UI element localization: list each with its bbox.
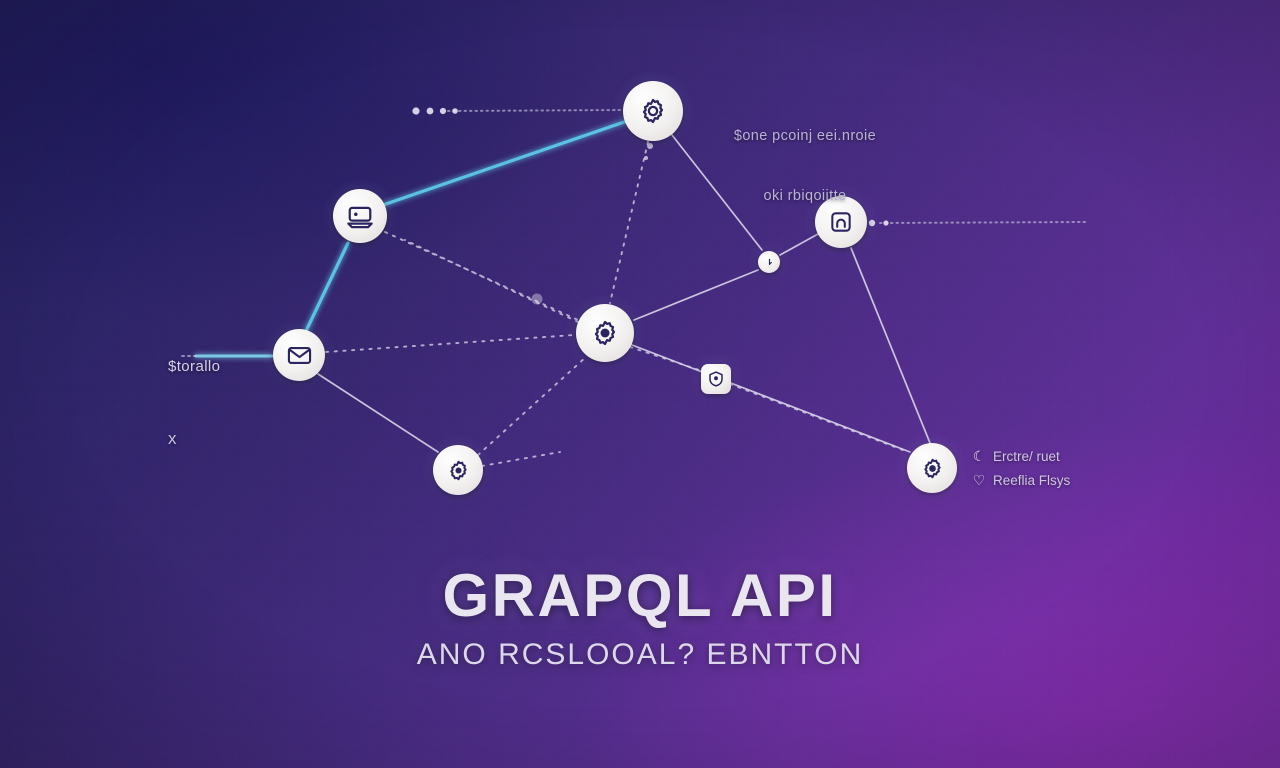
label-top-right: $one pcoinj eei.nroie oki rbiqoiitte bbox=[705, 86, 905, 246]
poster-canvas: $one pcoinj eei.nroie oki rbiqoiitte $to… bbox=[0, 0, 1280, 768]
trail-dot-1 bbox=[412, 107, 419, 114]
gear-icon bbox=[590, 318, 620, 348]
legend-item-0-label: Erctre/ ruet bbox=[993, 449, 1060, 464]
node-mail[interactable] bbox=[273, 329, 325, 381]
node-monitor[interactable] bbox=[333, 189, 387, 243]
gear-icon bbox=[638, 96, 668, 126]
edge-gearbottom-dotright bbox=[482, 452, 560, 466]
edge-hub-dotmid bbox=[405, 240, 578, 322]
edge-gearbottom-hub bbox=[478, 357, 586, 455]
heart-icon: ♡ bbox=[972, 472, 986, 489]
node-gear-bottom[interactable] bbox=[433, 445, 483, 495]
node-hub-center[interactable] bbox=[576, 304, 634, 362]
gear-icon bbox=[920, 456, 945, 481]
mail-icon bbox=[286, 342, 313, 369]
crescent-refresh-icon: ☾ bbox=[972, 448, 986, 465]
legend-item-1[interactable]: ♡ Reeflia Flsys bbox=[972, 472, 1070, 489]
label-top-right-line1: $one pcoinj eei.nroie bbox=[705, 126, 905, 146]
loose-dot-c bbox=[532, 294, 543, 305]
label-left: $torallo x bbox=[168, 316, 220, 492]
shield-icon bbox=[707, 370, 725, 388]
loose-dot-a bbox=[647, 143, 653, 149]
edge-junction-hub bbox=[634, 270, 758, 320]
node-junction[interactable] bbox=[758, 251, 780, 273]
monitor-icon bbox=[346, 202, 374, 230]
label-left-line2: x bbox=[168, 427, 220, 450]
legend-item-0[interactable]: ☾ Erctre/ ruet bbox=[972, 448, 1070, 465]
trail-group bbox=[182, 110, 1085, 356]
trail-dot-2 bbox=[427, 108, 434, 115]
edge-panel-gearbr bbox=[851, 248, 930, 443]
trail-dot-3 bbox=[440, 108, 446, 114]
edge-mail-hub bbox=[326, 335, 574, 352]
gear-icon bbox=[446, 458, 471, 483]
edge-mail-monitor bbox=[306, 243, 348, 331]
edge-monitor-geartop bbox=[383, 120, 630, 205]
trail-dot-4 bbox=[452, 108, 458, 114]
legend: ☾ Erctre/ ruet ♡ Reeflia Flsys bbox=[972, 448, 1070, 496]
edge-mail-gearbottom bbox=[318, 374, 438, 452]
node-shield-small[interactable] bbox=[701, 364, 731, 394]
edge-group-highlight bbox=[196, 120, 630, 356]
node-gear-br[interactable] bbox=[907, 443, 957, 493]
dot-icon bbox=[764, 257, 775, 268]
edge-geartop-hub bbox=[610, 142, 648, 303]
trail-right bbox=[880, 222, 1085, 223]
trail-top-left bbox=[448, 110, 625, 111]
loose-dots bbox=[532, 143, 654, 305]
loose-dot-b bbox=[644, 156, 648, 160]
label-top-right-line2: oki rbiqoiitte bbox=[705, 186, 905, 206]
node-gear-top[interactable] bbox=[623, 81, 683, 141]
label-left-line1: $torallo bbox=[168, 357, 220, 378]
legend-item-1-label: Reeflia Flsys bbox=[993, 473, 1070, 488]
